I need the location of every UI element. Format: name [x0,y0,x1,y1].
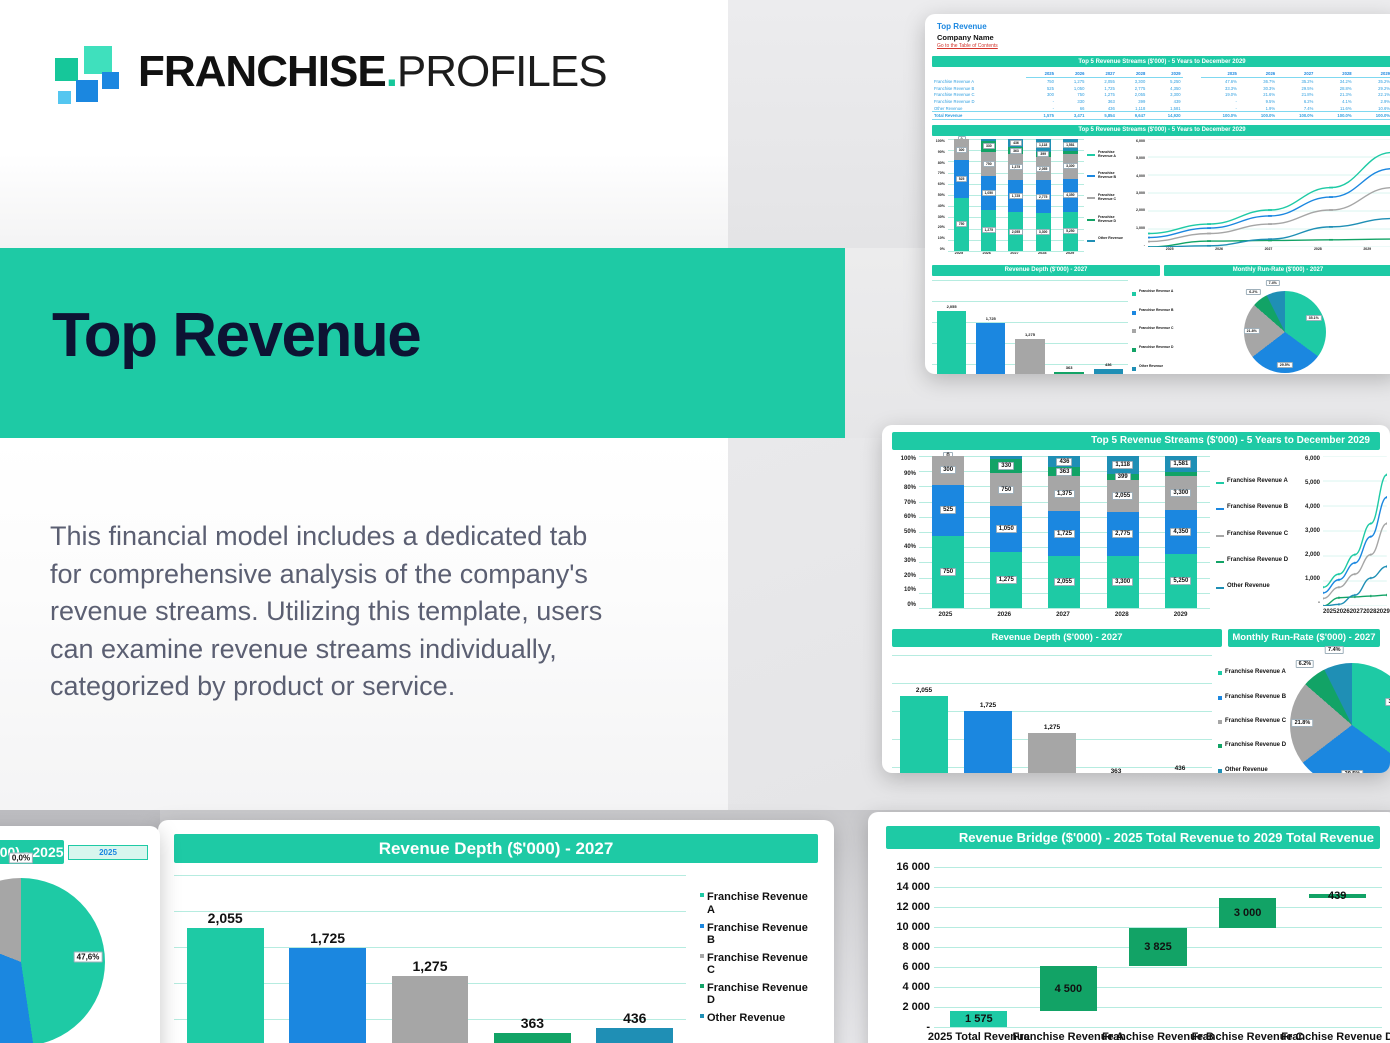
legend-label: Other Revenue [1098,236,1123,240]
sheet-title: Top Revenue [937,22,1390,33]
col-2028: 2028 [1117,70,1147,78]
legend-label: Other Revenue [1225,767,1268,773]
bar-column: 1,725 [976,280,1005,374]
axis-tick: 5,000 [1305,480,1320,486]
stacked-segment: 1,581 [1165,456,1197,472]
legend-item[interactable]: Franchise Revenue C [700,952,818,977]
depth-legend: Franchise Revenue AFranchise Revenue BFr… [1128,280,1177,374]
data-label: 1,375 [1009,164,1024,170]
data-label: 2,055 [1009,229,1024,235]
panelE-pie-wrap: 47,6%33,3%19,0%0,0%0,0% [0,878,160,1043]
data-label: 3,300 [1063,163,1078,169]
legend-marker-icon [1216,561,1224,563]
data-label: 5,250 [1063,228,1078,234]
col-2027: 2027 [1086,70,1116,78]
stacked-segment: 2,055 [1036,157,1051,181]
stacked-segment: 5,250 [1063,212,1078,251]
grid-line [948,251,1084,252]
stacked-segment: 436 [1048,456,1080,467]
grid-line [934,987,1382,988]
data-label: 1,581 [1063,142,1078,148]
panelA-bottom-row: 2,0551,7251,275363436 Franchise Revenue … [932,280,1390,374]
pct-col-2029: 2029 [1354,70,1390,78]
data-label: 525 [940,506,956,514]
data-label: 1,050 [982,190,997,196]
data-label: 2,055 [947,304,957,309]
bar-column: 1,275 [1015,280,1044,374]
panelB-subtitles: Revenue Depth ($'000) - 2027 Monthly Run… [892,629,1380,647]
stacked-segment: 1,275 [981,210,996,251]
axis-tick: 0% [907,602,916,608]
axis-tick: 50% [904,529,916,535]
legend-marker-icon [1216,482,1224,484]
panelA-pie-chart: 35.1%29.5%21.8%6.2%7.4% [1177,280,1390,374]
grid-line [934,887,1382,888]
axis-tick: 70% [904,500,916,506]
data-label: 1,275 [996,576,1017,584]
legend-label: Franchise Revenue D [1227,557,1288,564]
runrate-pie: 35.1%29.5%21.8%6.2%7.4% [1244,291,1326,373]
legend-item[interactable]: Franchise Revenue A [1216,478,1294,485]
axis-tick: 14 000 [896,881,930,893]
line-plot [1148,139,1390,247]
bar [187,928,264,1043]
legend-marker-icon [1218,671,1222,675]
panelA-depth-title: Revenue Depth ($'000) - 2027 [932,265,1160,276]
axis-tick: 60% [904,514,916,520]
stacked-segment: 330 [981,141,996,152]
bar-column: 1,725 [289,875,366,1043]
data-label: 1,118 [1112,461,1133,469]
panelB-runrate-title: Monthly Run-Rate ($'000) - 2027 [1228,629,1380,647]
stacked-segment: 4,350 [1063,179,1078,212]
panelB-depth-title: Revenue Depth ($'000) - 2027 [892,629,1222,647]
pie-data-label: 21.8% [1292,719,1314,727]
hero-description: This financial model includes a dedicate… [50,518,610,706]
bar [289,948,366,1043]
legend-item[interactable]: Franchise Revenue D [1087,215,1129,223]
brand-wordmark: FRANCHISE.PROFILES [138,50,607,94]
stacked-segment: 300 [954,139,969,160]
axis-tick: 3,000 [1136,191,1145,195]
legend-label: Franchise Revenue B [1225,694,1286,701]
line-x-axis: 20252026202720282029 [1320,606,1387,615]
axis-tick: 90% [904,471,916,477]
legend-marker-icon [1087,197,1095,199]
legend-item[interactable]: Franchise Revenue C [1216,531,1294,538]
axis-tick: 2027 [1350,609,1357,615]
data-label: 750 [998,486,1014,494]
legend-item[interactable]: Franchise Revenue B [1216,504,1294,511]
legend-marker-icon [1087,154,1095,156]
axis-tick: 60% [938,182,945,186]
panelA-stacked-title: Top 5 Revenue Streams ($'000) - 5 Years … [932,125,1390,136]
depth-legend: Franchise Revenue AFranchise Revenue BFr… [1212,655,1290,774]
pie-data-label: 35.1% [1306,315,1322,321]
legend-item[interactable]: Other Revenue [1216,583,1294,590]
pct-col-2026: 2026 [1239,70,1277,78]
stacked-segment: 1,275 [990,552,1022,608]
data-label: 1,275 [412,958,447,974]
panelB-depth-chart: 2,0551,7251,275363436 [892,655,1212,774]
table-row: Other Revenue-664361,1181,581-1.9%7.4%11… [932,105,1390,112]
axis-tick: 2 000 [902,1001,930,1013]
legend-label: Other Revenue [707,1012,785,1025]
table-total-row: Total Revenue1,5753,4715,8549,64714,9201… [932,112,1390,120]
stacked-x-axis: 20252026202720282029 [916,608,1210,618]
data-label: 436 [1175,765,1186,772]
legend-marker-icon [700,924,704,928]
grid-line [934,1007,1382,1008]
legend-item[interactable]: Franchise Revenue C [1132,327,1177,333]
stacked-segment: 1,375 [1048,476,1080,511]
axis-tick: 2029 [1164,611,1196,618]
stacked-legend: Franchise Revenue AFranchise Revenue BFr… [1210,456,1294,624]
legend-item[interactable]: Franchise Revenue B [1218,694,1290,701]
grid-line [919,608,1210,609]
stacked-bar: 1,1183992,0552,7753,300 [1036,139,1051,251]
axis-tick: 10% [938,236,945,240]
legend-item[interactable]: Franchise Revenue D [1132,346,1177,352]
stacked-segment: 2,055 [1048,556,1080,608]
table-row: Franchise Revenue C3007501,2752,0553,300… [932,92,1390,99]
panelA-chart-row: 100%90%80%70%60%50%40%30%20%10%0% 030052… [932,139,1390,261]
legend-marker-icon [1216,587,1224,589]
screenshot-card-charts: Top 5 Revenue Streams ($'000) - 5 Years … [882,425,1390,773]
data-label: 1,725 [980,702,996,709]
stacked-segment: 330 [990,459,1022,473]
legend-label: Franchise Revenue A [1225,669,1286,676]
legend-label: Franchise Revenue C [1098,193,1129,201]
panelB-line-chart: 6,0005,0004,0003,0002,0001,000- 20252026… [1294,456,1387,624]
legend-item[interactable]: Franchise Revenue D [1218,742,1290,749]
legend-label: Franchise Revenue C [1227,531,1288,538]
line-x-axis: 20252026202720282029 [1145,247,1390,251]
axis-tick: 40% [904,544,916,550]
stacked-segment: 2,775 [1036,180,1051,212]
data-label: 2,775 [1112,530,1133,538]
revenue-table: 2025 2026 2027 2028 2029 2025 2026 2027 … [932,70,1390,120]
legend-item[interactable]: Other Revenue [1132,365,1177,371]
legend-label: Other Revenue [1139,365,1163,369]
axis-tick: 2027 [1255,247,1282,251]
pie-data-label: 29.5% [1277,362,1293,368]
axis-tick: 10% [904,587,916,593]
legend-marker-icon [700,1014,704,1018]
depth-plot: 2,0551,7251,275363436 [174,875,686,1043]
legend-item[interactable]: Franchise Revenue D [1216,557,1294,564]
bar-column: 436 [1094,280,1123,374]
axis-tick: 2026 [1336,609,1343,615]
grid-line [934,867,1382,868]
bar [1028,733,1076,773]
axis-tick: 2027 [1047,611,1079,618]
data-label: 4,350 [1063,192,1078,198]
legend-marker-icon [1132,329,1136,333]
axis-tick: 100% [936,139,945,143]
screenshot-card-spreadsheet: Top Revenue Company Name Go to the Table… [925,14,1390,374]
screenshot-card-runrate-2025: ly Run-Rate ($'000) - 2025 2025 47,6%33,… [0,826,160,1043]
waterfall-plot: -2 0004 0006 0008 00010 00012 00014 0001… [934,867,1382,1027]
axis-tick: 2029 [1354,247,1381,251]
legend-item[interactable]: Franchise Revenue B [700,922,818,947]
axis-tick: 16 000 [896,861,930,873]
grid-line [934,1027,1382,1028]
panelC-chart: 2,0551,7251,275363436 [174,875,686,1043]
axis-tick: 6 000 [902,961,930,973]
legend-label: Franchise Revenue B [1227,504,1288,511]
axis-tick: 2028 [1363,609,1370,615]
legend-marker-icon [1218,720,1222,724]
data-label: 750 [940,568,956,576]
data-label: 1,725 [310,930,345,946]
legend-label: Franchise Revenue A [1098,150,1129,158]
axis-tick: 50% [938,193,945,197]
bar-column: 1,275 [392,875,469,1043]
legend-marker-icon [700,893,704,897]
legend-marker-icon [700,954,704,958]
bar [1054,372,1083,374]
data-label: 300 [956,147,968,153]
bar-column: 436 [596,875,673,1043]
data-label: 3,300 [1112,578,1133,586]
axis-tick: 1,000 [1305,576,1320,582]
axis-tick: 2,000 [1305,552,1320,558]
stacked-bar: 4363631,3751,7252,055 [1008,139,1023,251]
pie-data-label: 47,6% [74,952,103,963]
axis-tick: 40% [938,204,945,208]
stacked-legend: Franchise Revenue AFranchise Revenue BFr… [1084,139,1129,261]
stacked-bar: 4363631,3751,7252,055 [1048,456,1080,608]
data-label: 1,118 [1036,142,1050,148]
waterfall-bar: 1 575 [950,1011,1007,1027]
axis-tick: 80% [904,485,916,491]
axis-tick: 6,000 [1305,456,1320,462]
bar [1015,339,1044,374]
pie-data-label: 6.2% [1296,660,1315,668]
bar-column: 2,055 [900,655,948,774]
stacked-bar: 1,5813,3004,3505,250 [1165,456,1197,608]
line-plot [1323,456,1387,606]
legend-item[interactable]: Other Revenue [1218,767,1290,773]
bar-column: 2,055 [187,875,264,1043]
stacked-segment: 750 [932,536,964,608]
axis-tick: 20% [904,573,916,579]
axis-tick: 2026 [988,611,1020,618]
stacked-segment: 750 [954,198,969,251]
legend-label: Franchise Revenue B [707,922,818,947]
legend-marker-icon [1132,292,1136,296]
stacked-segment: 750 [981,152,996,176]
axis-tick: 5,000 [1136,156,1145,160]
data-label: 1,275 [982,227,997,233]
data-label: 1,375 [1054,490,1075,498]
panelB-stacked-title: Top 5 Revenue Streams ($'000) - 5 Years … [892,432,1380,450]
axis-tick: 10 000 [896,921,930,933]
axis-tick: Franchise Revenue D [1281,1031,1390,1043]
stacked-segment: 750 [990,473,1022,506]
axis-tick: 30% [904,558,916,564]
axis-tick: 30% [938,215,945,219]
table-header-row: 2025 2026 2027 2028 2029 2025 2026 2027 … [932,70,1390,78]
legend-marker-icon [1132,311,1136,315]
legend-item[interactable]: Franchise Revenue C [1087,193,1129,201]
line-y-axis: 6,0005,0004,0003,0002,0001,000- [1294,456,1323,606]
axis-tick: 4,000 [1305,504,1320,510]
stacked-segment: 1,118 [1036,139,1051,152]
stacked-bar: 1,5813,3004,3505,250 [1063,139,1078,251]
legend-marker-icon [1216,508,1224,510]
panelB-bottom-row: 2,0551,7251,275363436 Franchise Revenue … [892,655,1380,774]
data-label: 363 [1066,365,1073,370]
legend-label: Other Revenue [1227,583,1270,590]
data-label: 3,300 [1170,489,1191,497]
data-label: 436 [1056,458,1072,466]
stacked-segment: 363 [1048,467,1080,476]
stacked-y-axis: 100%90%80%70%60%50%40%30%20%10%0% [932,139,948,251]
legend-item[interactable]: Franchise Revenue A [1218,669,1290,676]
legend-marker-icon [1218,769,1222,773]
brand-name-bold: FRANCHISE [138,47,386,96]
waterfall-bar: 4 500 [1040,966,1097,1011]
bar-column: 363 [494,875,571,1043]
stacked-segment: 3,300 [1063,154,1078,179]
depth-legend: Franchise Revenue AFranchise Revenue BFr… [686,875,818,1043]
legend-item[interactable]: Other Revenue [700,1012,818,1025]
data-label: 1,050 [996,525,1017,533]
legend-label: Franchise Revenue A [1139,290,1173,294]
legend-label: Franchise Revenue D [1139,346,1173,350]
legend-label: Franchise Revenue C [1139,327,1173,331]
data-label: 330 [998,462,1014,470]
pie-data-label: 7.4% [1325,646,1344,654]
data-label: 1,275 [1025,332,1035,337]
stacked-bar: 1,1183992,0552,7753,300 [1107,456,1139,608]
legend-item[interactable]: Franchise Revenue D [700,982,818,1007]
pct-col-2025: 2025 [1201,70,1239,78]
legend-label: Franchise Revenue A [1227,478,1288,485]
data-label: 2,055 [1054,578,1075,586]
pie-data-label: 21.8% [1244,328,1260,334]
axis-tick: 2025 [929,611,961,618]
legend-item[interactable]: Franchise Revenue A [1087,150,1129,158]
axis-tick: 2026 [1206,247,1233,251]
year-tab-2025[interactable]: 2025 [68,845,148,860]
axis-tick: 6,000 [1136,139,1145,143]
data-label: 1,275 [1044,724,1060,731]
data-label: 300 [940,466,956,474]
legend-item[interactable]: Franchise Revenue A [700,891,818,916]
axis-tick: 1,000 [1136,226,1145,230]
legend-item[interactable]: Other Revenue [1087,236,1129,242]
table-row: Franchise Revenue D-330363399439-9.5%6.2… [932,98,1390,105]
bar [964,711,1012,773]
data-label: 436 [623,1010,646,1026]
data-label: 1,725 [1054,530,1075,538]
table-of-contents-link[interactable]: Go to the Table of Contents [937,43,1390,51]
data-label: 750 [956,221,968,227]
stacked-segment: 1,118 [1107,456,1139,474]
legend-label: Franchise Revenue D [1098,215,1129,223]
legend-item[interactable]: Franchise Revenue C [1218,718,1290,725]
panelA-subtitles: Revenue Depth ($'000) - 2027 Monthly Run… [932,265,1390,276]
legend-item[interactable]: Franchise Revenue A [1132,290,1177,296]
waterfall-bar: 3 825 [1129,928,1186,966]
stacked-segment: 525 [932,485,964,536]
data-label: 2,055 [1112,492,1133,500]
data-label: 2,055 [1036,166,1051,172]
legend-marker-icon [1087,219,1095,221]
bar [494,1033,571,1043]
panelB-pie-chart: 35.1%29.5%21.8%6.2%7.4% [1290,655,1390,774]
axis-tick: 70% [938,171,945,175]
stacked-bar: 3307501,0501,275 [981,139,996,251]
depth-plot: 2,0551,7251,275363436 [932,280,1128,374]
data-label: 436 [1105,362,1112,367]
table-row: Franchise Revenue B5251,0501,7252,7754,3… [932,85,1390,92]
legend-item[interactable]: Franchise Revenue B [1132,309,1177,315]
stacked-segment: 1,050 [981,176,996,210]
line-y-axis: 6,0005,0004,0003,0002,0001,000- [1129,139,1148,247]
panelB-stacked-chart: 100%90%80%70%60%50%40%30%20%10%0% 030052… [892,456,1210,624]
stacked-segment: 2,055 [1008,212,1023,251]
legend-marker-icon [1132,348,1136,352]
stacked-bar: 0300525750 [954,139,969,251]
depth-plot: 2,0551,7251,275363436 [892,655,1212,774]
axis-tick: 90% [938,150,945,154]
grid-line [934,907,1382,908]
sheet-table-title: Top 5 Revenue Streams ($'000) - 5 Years … [932,56,1390,67]
data-label: 2,055 [208,910,243,926]
brand-name-light: PROFILES [397,47,607,96]
panelA-stacked-chart: 100%90%80%70%60%50%40%30%20%10%0% 030052… [932,139,1084,261]
legend-label: Franchise Revenue B [1139,309,1173,313]
pie-data-label: 29.5% [1342,770,1364,773]
stacked-segment: 1,725 [1008,180,1023,212]
axis-tick: 8 000 [902,941,930,953]
axis-tick: 2,000 [1136,208,1145,212]
data-label: 2,055 [916,687,932,694]
stacked-segment: 363 [1008,147,1023,154]
bar-column: 363 [1054,280,1083,374]
axis-tick: 100% [901,456,916,462]
panelA-line-chart: 6,0005,0004,0003,0002,0001,000- 20252026… [1129,139,1390,261]
table-body: Franchise Revenue A7501,2752,0553,3005,2… [932,78,1390,120]
axis-tick: - [1144,243,1145,247]
page-title: Top Revenue [52,305,420,367]
runrate-pie: 35.1%29.5%21.8%6.2%7.4% [1290,663,1390,774]
axis-tick: 0% [940,247,945,251]
legend-item[interactable]: Franchise Revenue B [1087,171,1129,179]
background-top [0,0,728,248]
bar-column: 2,055 [937,280,966,374]
axis-tick: 80% [938,161,945,165]
table-row: Franchise Revenue A7501,2752,0553,3005,2… [932,78,1390,85]
axis-tick: 12 000 [896,901,930,913]
axis-tick: 20% [938,225,945,229]
waterfall-bar: 3 000 [1219,898,1276,928]
legend-label: Franchise Revenue C [707,952,818,977]
data-label: 330 [983,143,995,149]
screenshot-card-revenue-depth: Revenue Depth ($'000) - 2027 2,0551,7251… [158,820,834,1043]
bar [900,696,948,773]
legend-marker-icon [1218,696,1222,700]
waterfall-bar: 439 [1309,894,1366,898]
stacked-segment: 3,300 [1036,213,1051,251]
axis-tick: - [1318,600,1320,606]
stacked-segment: 525 [954,160,969,197]
axis-tick: 2028 [1304,247,1331,251]
